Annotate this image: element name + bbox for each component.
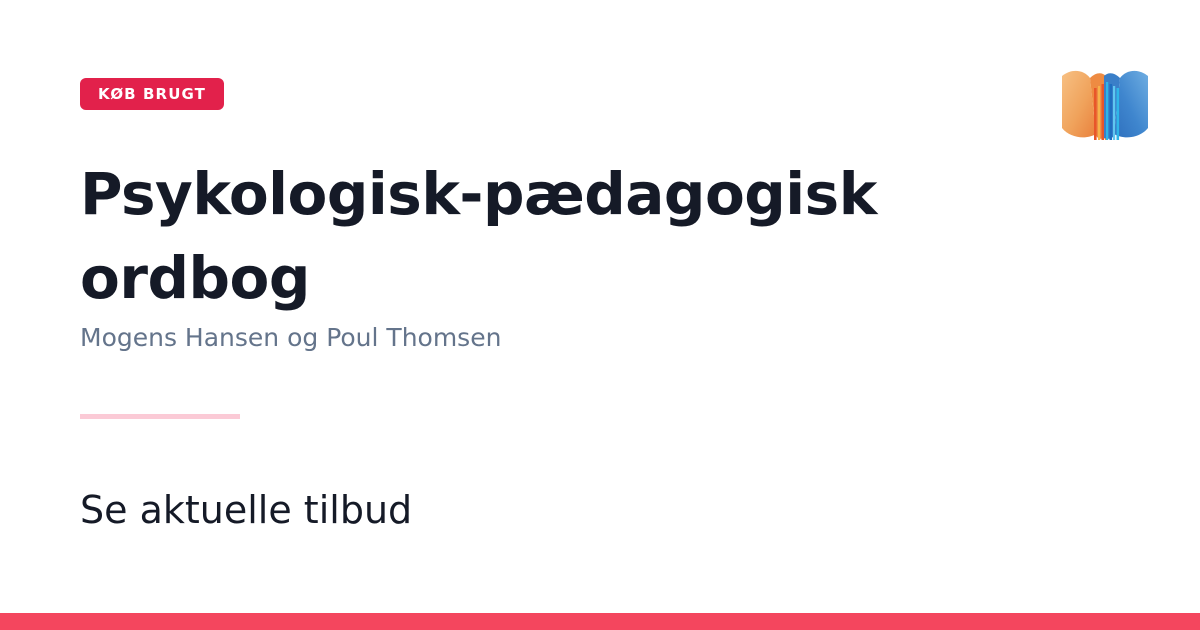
- divider: [80, 414, 240, 419]
- share-card: KØB BRUGT: [0, 0, 1200, 630]
- author-subtitle: Mogens Hansen og Poul Thomsen: [80, 320, 501, 356]
- bottom-accent-bar: [0, 613, 1200, 630]
- status-badge-label: KØB BRUGT: [98, 87, 206, 102]
- butterfly-book-logo: [1050, 48, 1160, 160]
- page-title: Psykologisk-pædagogisk ordbog: [80, 152, 980, 320]
- status-badge: KØB BRUGT: [80, 78, 224, 110]
- cta-text: Se aktuelle tilbud: [80, 484, 412, 536]
